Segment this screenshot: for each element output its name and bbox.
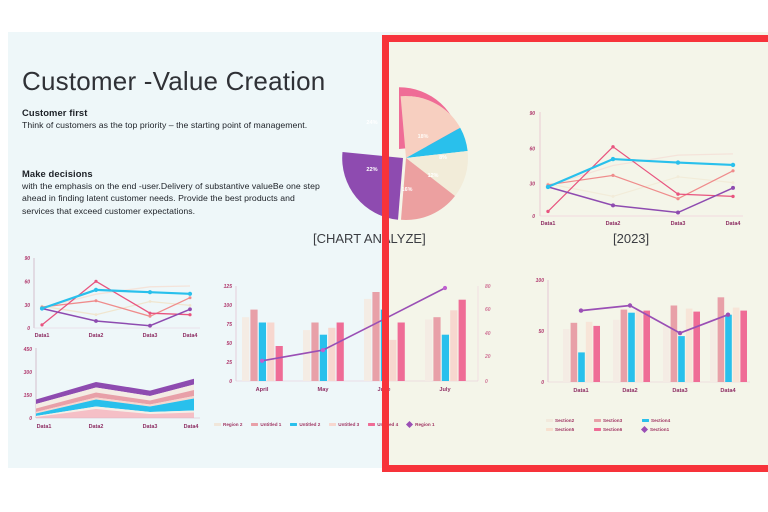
legend-label-section6: Section6 xyxy=(603,427,622,432)
svg-text:60: 60 xyxy=(529,146,535,152)
svg-text:0: 0 xyxy=(27,326,30,332)
svg-text:Data2: Data2 xyxy=(89,333,104,339)
line-chart-2023-svg: 90 60 30 0 xyxy=(515,100,755,230)
svg-text:Data4: Data4 xyxy=(720,388,736,394)
legend-label-section3: Section3 xyxy=(603,418,622,423)
svg-text:0: 0 xyxy=(532,214,535,220)
svg-text:Data1: Data1 xyxy=(573,388,588,394)
svg-text:300: 300 xyxy=(24,370,33,376)
svg-text:Data4: Data4 xyxy=(183,333,198,339)
line-chart-left[interactable]: 90 60 30 0 xyxy=(10,252,210,344)
svg-text:0: 0 xyxy=(541,380,544,386)
bar-chart-data-svg: 100 50 0 xyxy=(522,272,762,407)
legend-swatch-untitled2 xyxy=(290,423,297,426)
legend-bar-chart-months[interactable]: Region 2 Untitled 1 Untitled 2 Untitled … xyxy=(214,422,524,427)
svg-text:30: 30 xyxy=(529,182,535,188)
legend-label-section4: Section4 xyxy=(651,418,670,423)
legend-item-section1[interactable]: Section1 xyxy=(642,427,690,432)
pie-label-2: 8% xyxy=(439,155,447,161)
legend-item-untitled4[interactable]: Untitled 4 xyxy=(368,422,398,427)
pie-label-0: 24% xyxy=(366,120,377,126)
section-body-customer-first: Think of customers as the top priority –… xyxy=(22,119,322,131)
svg-text:90: 90 xyxy=(24,256,30,262)
legend-bar-chart-data[interactable]: Section2 Section3 Section4 Section5 Sect… xyxy=(546,418,736,432)
svg-text:0: 0 xyxy=(229,379,232,385)
legend-swatch-untitled4 xyxy=(368,423,375,426)
bar-group-data1[interactable] xyxy=(563,322,600,382)
area-bands[interactable] xyxy=(36,379,194,418)
bar-chart-data[interactable]: 100 50 0 xyxy=(522,272,762,407)
line-chart-2023[interactable]: 90 60 30 0 xyxy=(515,100,755,230)
svg-text:April: April xyxy=(256,387,269,393)
caption-2023: [2023] xyxy=(613,231,649,246)
svg-text:60: 60 xyxy=(485,307,491,313)
pie-label-3: 12% xyxy=(428,173,439,179)
svg-text:Data4: Data4 xyxy=(184,424,199,430)
caption-chart-analyze: [CHART ANALYZE] xyxy=(313,231,426,246)
x-tick-labels: Data1 Data2 Data3 Data4 xyxy=(573,388,736,394)
y-tick-labels: 100 50 0 xyxy=(536,278,545,386)
y-tick-labels-left: 125 100 75 50 25 0 xyxy=(224,284,233,385)
svg-text:75: 75 xyxy=(226,322,232,328)
legend-swatch-region1 xyxy=(406,421,413,428)
bar-chart-months-svg: 125 100 75 50 25 0 80 60 40 20 0 xyxy=(206,278,496,403)
y-tick-labels-right: 80 60 40 20 0 xyxy=(484,284,491,385)
legend-label-region1: Region 1 xyxy=(415,422,434,427)
section-heading-customer-first: Customer first xyxy=(22,107,87,118)
series-untitled4[interactable] xyxy=(546,145,734,213)
svg-text:June: June xyxy=(377,387,390,393)
x-tick-labels: Data1 Data2 Data3 Data4 xyxy=(35,333,198,339)
svg-text:May: May xyxy=(318,387,330,393)
line-chart-left-svg: 90 60 30 0 xyxy=(10,252,210,344)
svg-text:Data4: Data4 xyxy=(726,221,741,227)
legend-item-section4[interactable]: Section4 xyxy=(642,418,690,423)
svg-text:Data3: Data3 xyxy=(672,388,687,394)
section-body-make-decisions: with the emphasis on the end -user.Deliv… xyxy=(22,180,320,217)
bar-group-april[interactable] xyxy=(242,310,283,381)
bar-group-june[interactable] xyxy=(364,292,405,381)
svg-text:20: 20 xyxy=(484,354,491,360)
bar-group-july[interactable] xyxy=(425,300,466,381)
x-tick-labels: Data1 Data2 Data3 Data4 xyxy=(541,221,741,227)
legend-swatch-section1 xyxy=(641,426,648,433)
legend-item-untitled2[interactable]: Untitled 2 xyxy=(290,422,320,427)
bar-group-data4[interactable] xyxy=(710,297,747,382)
svg-text:Data3: Data3 xyxy=(143,424,158,430)
legend-label-section2: Section2 xyxy=(555,418,574,423)
bar-group-data3[interactable] xyxy=(663,306,700,383)
legend-swatch-section6 xyxy=(594,428,601,431)
legend-label-untitled4: Untitled 4 xyxy=(377,422,398,427)
legend-label-untitled3: Untitled 3 xyxy=(338,422,359,427)
legend-item-section5[interactable]: Section5 xyxy=(546,427,594,432)
section-heading-make-decisions: Make decisions xyxy=(22,168,93,179)
svg-text:100: 100 xyxy=(536,278,545,284)
svg-text:Data2: Data2 xyxy=(606,221,621,227)
legend-item-section6[interactable]: Section6 xyxy=(594,427,642,432)
svg-text:50: 50 xyxy=(226,341,232,347)
svg-text:150: 150 xyxy=(24,393,33,399)
svg-text:25: 25 xyxy=(225,360,232,366)
svg-text:0: 0 xyxy=(485,379,488,385)
legend-label-region2: Region 2 xyxy=(223,422,242,427)
line-series-region1[interactable] xyxy=(260,286,447,363)
svg-text:Data2: Data2 xyxy=(622,388,637,394)
legend-item-untitled1[interactable]: Untitled 1 xyxy=(251,422,281,427)
svg-text:30: 30 xyxy=(24,303,30,309)
svg-text:80: 80 xyxy=(485,284,491,290)
bar-group-data2[interactable] xyxy=(613,310,650,382)
y-tick-labels: 450 300 150 0 xyxy=(23,347,33,422)
svg-text:50: 50 xyxy=(538,329,544,335)
x-tick-labels: April May June July xyxy=(256,387,452,393)
pie-chart-svg: 24% 18% 8% 12% 16% 22% xyxy=(330,88,480,228)
bar-chart-months[interactable]: 125 100 75 50 25 0 80 60 40 20 0 xyxy=(206,278,496,403)
y-tick-labels: 90 60 30 0 xyxy=(529,111,535,220)
legend-swatch-section5 xyxy=(546,428,553,431)
svg-text:Data3: Data3 xyxy=(143,333,158,339)
svg-text:450: 450 xyxy=(23,347,33,353)
legend-item-section3[interactable]: Section3 xyxy=(594,418,642,423)
area-chart-left-svg: 450 300 150 0 Data1 Data2 Data3 Data4 xyxy=(10,342,210,434)
svg-text:July: July xyxy=(439,387,451,393)
x-tick-labels: Data1 Data2 Data3 Data4 xyxy=(37,424,199,430)
svg-text:Data1: Data1 xyxy=(35,333,50,339)
page-title: Customer -Value Creation xyxy=(22,66,325,97)
pie-chart[interactable]: 24% 18% 8% 12% 16% 22% xyxy=(330,88,480,228)
legend-swatch-section4 xyxy=(642,419,649,422)
svg-text:125: 125 xyxy=(224,284,233,290)
legend-swatch-region2 xyxy=(214,423,221,426)
pie-slice-22[interactable] xyxy=(342,152,403,220)
svg-text:Data1: Data1 xyxy=(37,424,52,430)
legend-label-untitled2: Untitled 2 xyxy=(299,422,320,427)
screenshot-root: Customer -Value Creation Customer first … xyxy=(0,0,768,512)
pie-label-4: 16% xyxy=(402,187,413,193)
area-chart-left[interactable]: 450 300 150 0 Data1 Data2 Data3 Data4 xyxy=(10,342,210,434)
legend-label-section1: Section1 xyxy=(650,427,669,432)
legend-swatch-untitled3 xyxy=(329,423,336,426)
legend-swatch-untitled1 xyxy=(251,423,258,426)
pie-label-5: 22% xyxy=(366,167,377,173)
svg-text:Data1: Data1 xyxy=(541,221,556,227)
svg-text:0: 0 xyxy=(29,416,32,422)
legend-label-untitled1: Untitled 1 xyxy=(260,422,281,427)
legend-item-region2[interactable]: Region 2 xyxy=(214,422,242,427)
legend-item-region1[interactable]: Region 1 xyxy=(407,422,434,427)
svg-text:90: 90 xyxy=(529,111,535,117)
y-tick-labels: 90 60 30 0 xyxy=(24,256,30,332)
svg-text:40: 40 xyxy=(484,331,491,337)
pie-label-1: 18% xyxy=(418,134,429,140)
legend-item-untitled3[interactable]: Untitled 3 xyxy=(329,422,359,427)
legend-swatch-section2 xyxy=(546,419,553,422)
legend-item-section2[interactable]: Section2 xyxy=(546,418,594,423)
line-series-section1[interactable] xyxy=(579,303,730,335)
svg-text:Data2: Data2 xyxy=(89,424,104,430)
svg-text:60: 60 xyxy=(24,280,30,286)
svg-text:100: 100 xyxy=(224,303,233,309)
svg-text:Data3: Data3 xyxy=(671,221,686,227)
legend-label-section5: Section5 xyxy=(555,427,574,432)
legend-swatch-section3 xyxy=(594,419,601,422)
